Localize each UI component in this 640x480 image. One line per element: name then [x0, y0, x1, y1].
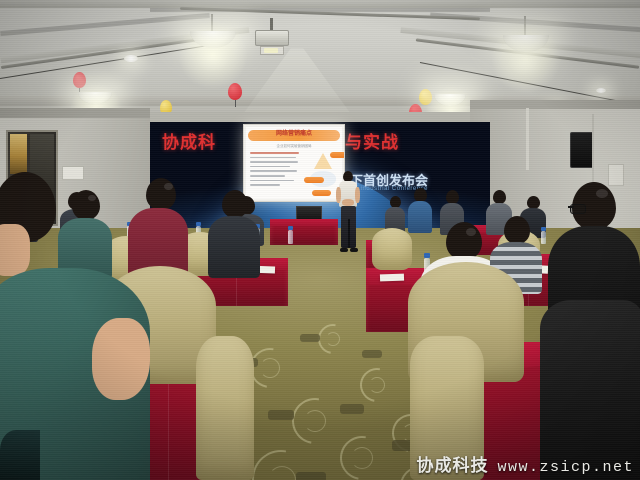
attendee-head: [146, 178, 176, 210]
water-bottle: [288, 230, 293, 244]
attendee-shirt: [540, 300, 640, 480]
attendee-grey-shirt: [540, 300, 640, 480]
slide-title: 网络营销痛点: [246, 128, 342, 137]
attendee-head: [446, 222, 482, 260]
chair: [410, 336, 484, 480]
attendee-head: [222, 190, 248, 218]
doorway-warm-light: [10, 134, 27, 174]
presenter: [336, 171, 360, 257]
slide-subtitle: 企业如何突破营销困局: [252, 144, 336, 149]
slide-chip: [330, 152, 345, 158]
paper-sheet: [380, 274, 404, 282]
attendee-head: [504, 216, 530, 244]
conference-room-photo: 协成科 与实战 下首创发布会 IT Industrial Conference …: [0, 0, 640, 480]
slide-chip: [312, 190, 331, 196]
banner-title-right: 与实战: [345, 128, 399, 153]
chair: [196, 336, 254, 480]
banner-title-left: 协成科: [162, 128, 216, 153]
balloon-red: [228, 83, 242, 100]
attendee-hand: [108, 326, 142, 358]
stage-table: [270, 219, 338, 245]
chair: [372, 228, 412, 270]
slide-body-text: [250, 152, 302, 189]
attendee-shirt: [208, 216, 260, 278]
ceiling-projector: [255, 30, 289, 46]
ceiling-downlight: [124, 55, 138, 62]
presenter-hands: [342, 199, 354, 206]
wall-speaker: [570, 132, 594, 168]
slide-chip: [304, 177, 324, 183]
attendee-dark-top: [208, 190, 260, 282]
ceiling-downlight: [596, 88, 606, 93]
presentation-slide: 网络营销痛点 企业如何突破营销困局: [246, 127, 342, 199]
foreground-shadow: [0, 430, 40, 480]
